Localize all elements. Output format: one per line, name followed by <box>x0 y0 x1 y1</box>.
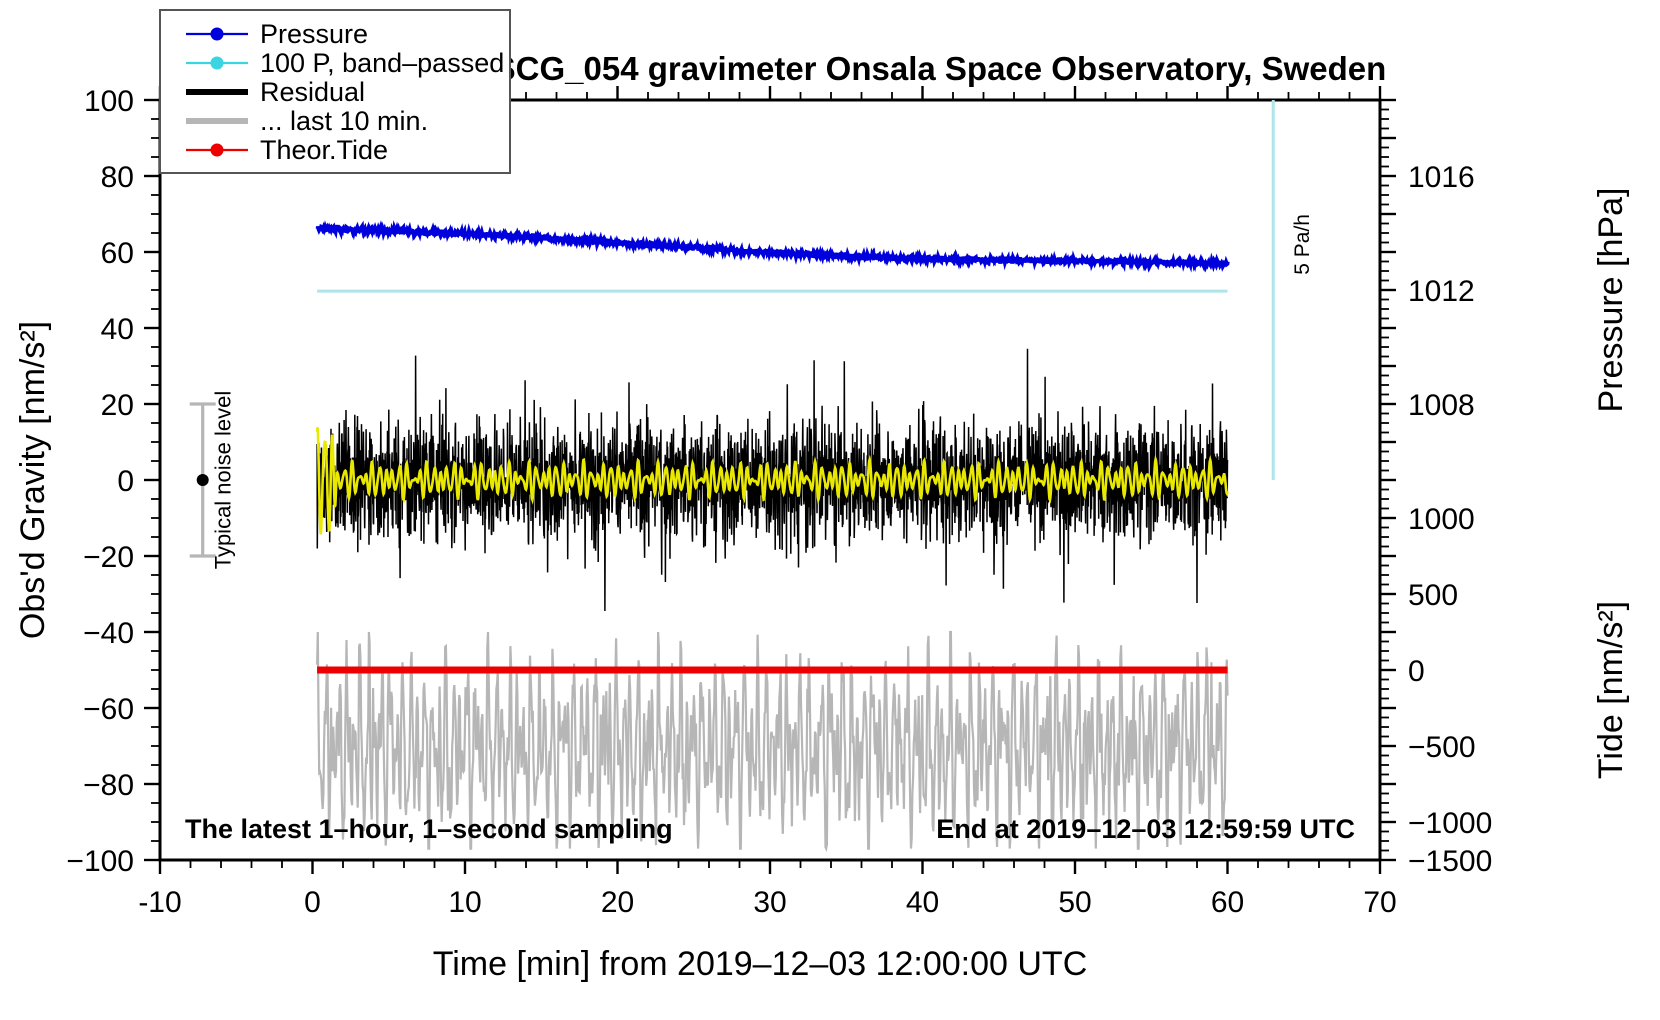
y-tick-tide-1000: 1000 <box>1408 503 1475 536</box>
y-axis-title-tide: Tide [nm/s²] <box>1592 601 1630 779</box>
y-axis-title-pressure: Pressure [hPa] <box>1592 188 1630 413</box>
x-tick-40: 40 <box>906 886 939 919</box>
legend-label-1: 100 P, band–passed <box>260 48 504 78</box>
gravimeter-chart: -10010203040506070100806040200−20−40−60−… <box>0 0 1660 1020</box>
typical-noise-level-label: Typical noise level <box>211 391 236 570</box>
y-tick-tide--500: −500 <box>1408 731 1476 764</box>
y-tick-left-100: 100 <box>84 85 134 118</box>
noise-level-dot <box>197 474 209 486</box>
y-tick-left--100: −100 <box>66 845 134 878</box>
y-tick-left--60: −60 <box>83 693 134 726</box>
x-tick-20: 20 <box>601 886 634 919</box>
legend-label-3: ... last 10 min. <box>260 106 428 136</box>
y-tick-tide--1500: −1500 <box>1408 845 1492 878</box>
x-tick-10: 10 <box>448 886 481 919</box>
legend-marker-1 <box>211 57 224 70</box>
end-time-note: End at 2019–12–03 12:59:59 UTC <box>936 814 1355 844</box>
y-tick-left-40: 40 <box>101 313 134 346</box>
y-axis-title-left: Obs'd Gravity [nm/s²] <box>14 321 52 639</box>
y-tick-tide-500: 500 <box>1408 579 1458 612</box>
y-tick-left-80: 80 <box>101 161 134 194</box>
figure-root: -10010203040506070100806040200−20−40−60−… <box>0 0 1660 1020</box>
chart-title: SCG_054 gravimeter Onsala Space Observat… <box>494 50 1387 87</box>
y-tick-tide-0: 0 <box>1408 655 1425 688</box>
legend-label-2: Residual <box>260 77 365 107</box>
pressure-rate-label: 5 Pa/h <box>1291 214 1314 275</box>
x-tick-70: 70 <box>1363 886 1396 919</box>
legend-marker-0 <box>211 28 224 41</box>
y-tick-left-20: 20 <box>101 389 134 422</box>
sampling-note: The latest 1–hour, 1–second sampling <box>185 814 673 844</box>
x-tick-50: 50 <box>1058 886 1091 919</box>
y-tick-left-60: 60 <box>101 237 134 270</box>
y-tick-pressure-1012: 1012 <box>1408 275 1475 308</box>
y-tick-pressure-1008: 1008 <box>1408 389 1475 422</box>
legend-marker-4 <box>211 144 224 157</box>
x-axis-title: Time [min] from 2019–12–03 12:00:00 UTC <box>433 945 1088 983</box>
x-tick-30: 30 <box>753 886 786 919</box>
y-tick-pressure-1016: 1016 <box>1408 161 1475 194</box>
y-tick-left-0: 0 <box>117 465 134 498</box>
y-tick-left--40: −40 <box>83 617 134 650</box>
legend: Pressure100 P, band–passedResidual... la… <box>160 10 510 173</box>
y-tick-tide--1000: −1000 <box>1408 807 1492 840</box>
x-tick-60: 60 <box>1211 886 1244 919</box>
legend-label-0: Pressure <box>260 19 368 49</box>
legend-label-4: Theor.Tide <box>260 135 388 165</box>
x-tick--10: -10 <box>138 886 181 919</box>
y-tick-left--20: −20 <box>83 541 134 574</box>
x-tick-0: 0 <box>304 886 321 919</box>
y-tick-left--80: −80 <box>83 769 134 802</box>
